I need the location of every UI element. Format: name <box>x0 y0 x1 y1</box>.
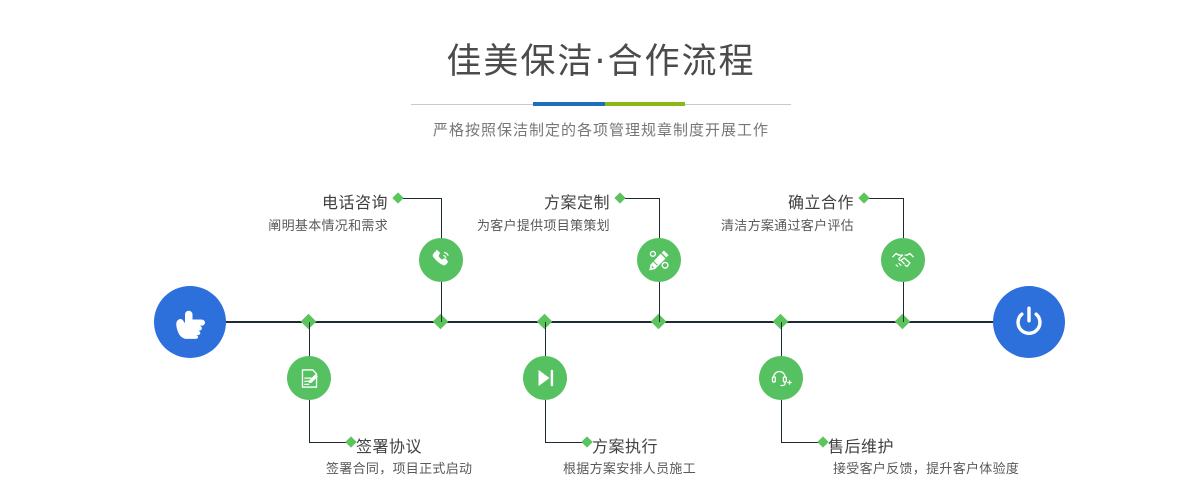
divider-blue-segment <box>533 102 605 106</box>
step-label-5: 确立合作 <box>660 189 854 213</box>
step-label-2: 签署协议 <box>356 433 422 457</box>
power-button-icon <box>1009 302 1049 342</box>
header: 佳美保洁·合作流程 严格按照保洁制定的各项管理规章制度开展工作 <box>0 0 1202 140</box>
label-connector-step-6-horizontal <box>781 442 821 443</box>
handshake-icon <box>890 247 916 273</box>
label-connector-step-2-horizontal <box>309 442 349 443</box>
label-connector-step-4-vertical <box>545 400 546 442</box>
step-desc-6: 接受客户反馈，提升客户体验度 <box>833 458 1019 477</box>
step-label-6: 售后维护 <box>828 433 894 457</box>
connector-step-3-vertical <box>659 282 660 322</box>
step-icon-6[interactable] <box>759 356 803 400</box>
label-marker-step-5 <box>858 192 869 203</box>
title-divider <box>411 102 791 106</box>
label-marker-step-1 <box>392 192 403 203</box>
pencil-ruler-icon <box>646 247 672 273</box>
label-marker-step-2 <box>345 436 356 447</box>
document-pen-icon <box>297 366 322 391</box>
connector-step-5-vertical <box>903 282 904 322</box>
phone-call-icon <box>428 247 454 273</box>
step-icon-2[interactable] <box>287 356 331 400</box>
step-desc-5: 清洁方案通过客户评估 <box>610 215 854 234</box>
connector-step-4-vertical <box>545 322 546 360</box>
label-connector-step-5-vertical <box>903 198 904 238</box>
connector-step-2-vertical <box>309 322 310 360</box>
step-desc-2: 签署合同，项目正式启动 <box>326 458 472 477</box>
step-label-4: 方案执行 <box>592 433 658 457</box>
label-connector-step-6-vertical <box>781 400 782 442</box>
step-desc-1: 阐明基本情况和需求 <box>144 215 388 234</box>
timeline-start-endpoint[interactable] <box>154 286 226 358</box>
label-connector-step-2-vertical <box>309 400 310 442</box>
divider-green-segment <box>605 102 685 106</box>
label-marker-step-4 <box>581 436 592 447</box>
page-subtitle: 严格按照保洁制定的各项管理规章制度开展工作 <box>0 119 1202 140</box>
timeline-end-endpoint[interactable] <box>993 286 1065 358</box>
label-connector-step-4-horizontal <box>545 442 585 443</box>
pointing-hand-icon <box>170 302 210 342</box>
step-label-3: 方案定制 <box>416 189 610 213</box>
step-icon-5[interactable] <box>881 238 925 282</box>
label-connector-step-3-horizontal <box>620 198 659 199</box>
step-icon-4[interactable] <box>523 356 567 400</box>
step-desc-4: 根据方案安排人员施工 <box>563 458 696 477</box>
label-connector-step-5-horizontal <box>864 198 903 199</box>
process-flow-infographic: 佳美保洁·合作流程 严格按照保洁制定的各项管理规章制度开展工作 <box>0 0 1202 502</box>
play-execute-icon <box>532 365 558 391</box>
connector-step-6-vertical <box>781 322 782 360</box>
label-marker-step-3 <box>614 192 625 203</box>
step-icon-3[interactable] <box>637 238 681 282</box>
connector-step-1-vertical <box>441 282 442 322</box>
label-marker-step-6 <box>817 436 828 447</box>
step-label-1: 电话咨询 <box>194 189 388 213</box>
step-desc-3: 为客户提供项目策策划 <box>366 215 610 234</box>
page-title: 佳美保洁·合作流程 <box>0 45 1202 80</box>
step-icon-1[interactable] <box>419 238 463 282</box>
customer-service-add-icon <box>768 365 794 391</box>
